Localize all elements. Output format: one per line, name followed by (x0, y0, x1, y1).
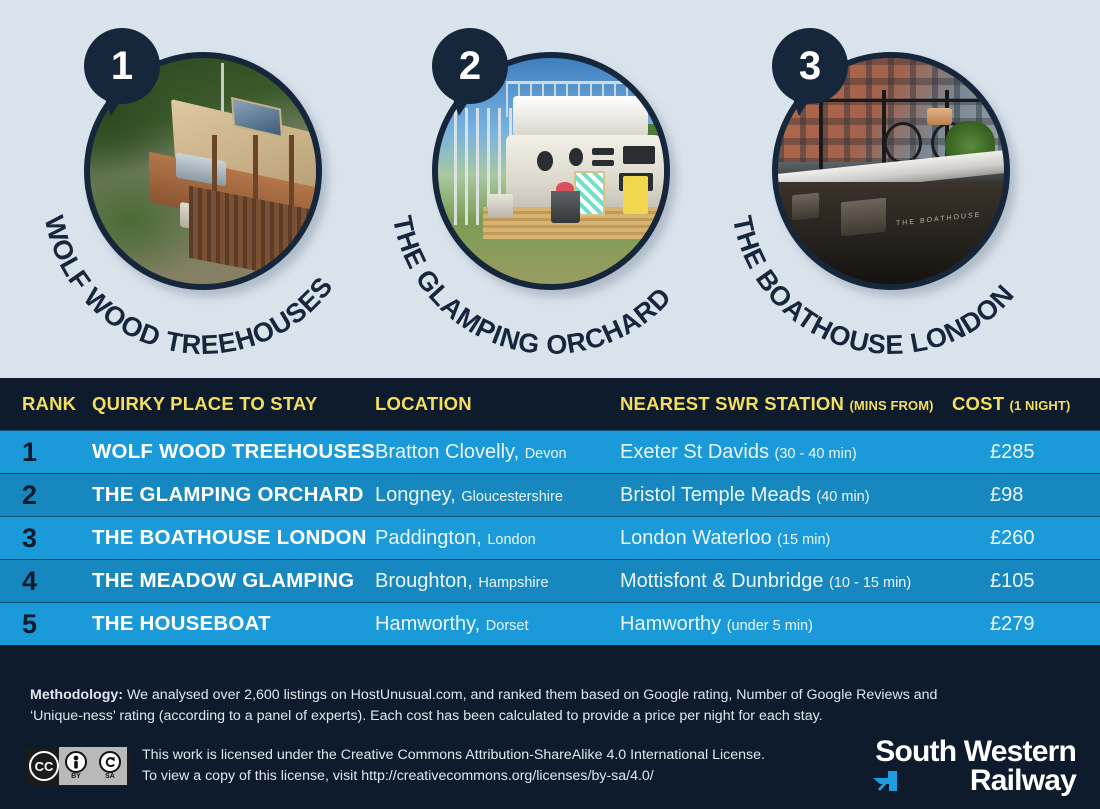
rank-bubble-number-3: 3 (799, 46, 821, 86)
cell-location-town: Hamworthy, (375, 613, 480, 635)
table-body: 1 WOLF WOOD TREEHOUSES Bratton Clovelly,… (0, 430, 1100, 645)
hero-section: 1 WOLF WOOD TREEHOUSES (0, 0, 1100, 378)
cell-location-county: Hampshire (478, 575, 548, 591)
methodology-line-1: Methodology: We analysed over 2,600 list… (30, 685, 1050, 706)
rankings-table: RANK QUIRKY PLACE TO STAY LOCATION NEARE… (0, 378, 1100, 661)
cell-location-town: Longney, (375, 484, 456, 506)
cc-by-label: BY (71, 773, 81, 781)
cc-icon: CC (29, 751, 59, 781)
cell-location-county: Gloucestershire (461, 489, 563, 505)
person-glyph (70, 755, 82, 769)
cell-station: Mottisfont & Dunbridge (10 - 15 min) (620, 570, 950, 593)
license-row: CC BY (0, 743, 1100, 809)
rank-bubble-3: 3 (772, 28, 848, 104)
cell-station-name: Exeter St Davids (620, 441, 769, 463)
cc-sa-label: SA (105, 773, 115, 781)
column-header-station-sub: (MINS FROM) (849, 398, 933, 413)
table-header-row: RANK QUIRKY PLACE TO STAY LOCATION NEARE… (0, 378, 1100, 430)
table-row[interactable]: 4 THE MEADOW GLAMPING Broughton, Hampshi… (0, 559, 1100, 602)
share-alike-glyph (104, 756, 117, 769)
column-header-station-main: NEAREST SWR STATION (620, 393, 844, 414)
cell-location-county: Dorset (486, 618, 529, 634)
cell-station-time: (10 - 15 min) (829, 575, 911, 591)
cell-place: THE MEADOW GLAMPING (92, 569, 372, 593)
badge-item-2[interactable]: 2 THE GLAMPING ORCHARD (376, 14, 716, 354)
license-line-1: This work is licensed under the Creative… (142, 745, 765, 766)
column-header-cost-main: COST (952, 393, 1004, 414)
cell-rank: 5 (22, 611, 82, 638)
rank-bubble-1: 1 (84, 28, 160, 104)
cell-station: London Waterloo (15 min) (620, 527, 950, 550)
badge-item-1[interactable]: 1 WOLF WOOD TREEHOUSES (28, 14, 368, 354)
license-text: This work is licensed under the Creative… (142, 745, 765, 787)
column-header-station: NEAREST SWR STATION (MINS FROM) (620, 393, 950, 415)
cell-place: WOLF WOOD TREEHOUSES (92, 440, 372, 464)
cell-location-town: Paddington, (375, 527, 482, 549)
cell-station-name: Hamworthy (620, 613, 721, 635)
column-header-rank: RANK (22, 393, 82, 415)
cell-rank: 3 (22, 525, 82, 552)
cell-cost: £98 (990, 484, 1100, 507)
cell-station-time: (30 - 40 min) (775, 446, 857, 462)
cell-location-town: Broughton, (375, 570, 473, 592)
table-row[interactable]: 5 THE HOUSEBOAT Hamworthy, Dorset Hamwor… (0, 602, 1100, 645)
cell-cost: £260 (990, 527, 1100, 550)
cell-location: Paddington, London (375, 527, 615, 550)
cell-cost: £105 (990, 570, 1100, 593)
cell-station: Exeter St Davids (30 - 40 min) (620, 441, 950, 464)
cell-station-time: (15 min) (777, 532, 830, 548)
column-header-cost: COST (1 NIGHT) (952, 393, 1092, 415)
brand-line-1: South Western (875, 737, 1076, 767)
infographic-page: 1 WOLF WOOD TREEHOUSES (0, 0, 1100, 809)
rank-bubble-2: 2 (432, 28, 508, 104)
table-row[interactable]: 3 THE BOATHOUSE LONDON Paddington, Londo… (0, 516, 1100, 559)
cell-location: Bratton Clovelly, Devon (375, 441, 615, 464)
table-row[interactable]: 1 WOLF WOOD TREEHOUSES Bratton Clovelly,… (0, 430, 1100, 473)
cell-location-county: London (487, 532, 535, 548)
rank-bubble-number-2: 2 (459, 46, 481, 86)
cc-icon-label: CC (35, 759, 54, 774)
column-header-location: LOCATION (375, 393, 615, 415)
license-line-2: To view a copy of this license, visit ht… (142, 766, 765, 787)
cell-rank: 1 (22, 439, 82, 466)
methodology-label: Methodology: (30, 687, 123, 703)
swr-arrow-icon (872, 769, 898, 793)
brand-line-2: Railway (970, 766, 1076, 796)
cell-station: Bristol Temple Meads (40 min) (620, 484, 950, 507)
table-row[interactable]: 2 THE GLAMPING ORCHARD Longney, Gloucest… (0, 473, 1100, 516)
cell-station-time: (40 min) (816, 489, 869, 505)
cell-rank: 2 (22, 482, 82, 509)
cell-cost: £279 (990, 613, 1100, 636)
south-western-railway-logo[interactable]: South Western Railway (866, 735, 1076, 801)
methodology-line-2: ‘Unique-ness’ rating (according to a pan… (30, 706, 1050, 727)
share-alike-icon (99, 751, 121, 773)
cell-cost: £285 (990, 441, 1100, 464)
badge-item-3[interactable]: THE BOATHOUSE 3 THE BOATHOUSE LONDON (716, 14, 1056, 354)
cell-location-county: Devon (525, 446, 567, 462)
cell-place: THE GLAMPING ORCHARD (92, 483, 372, 507)
cell-location: Longney, Gloucestershire (375, 484, 615, 507)
badge-row: 1 WOLF WOOD TREEHOUSES (0, 0, 1100, 378)
cell-location: Broughton, Hampshire (375, 570, 615, 593)
column-header-place: QUIRKY PLACE TO STAY (92, 393, 372, 415)
cell-location-town: Bratton Clovelly, (375, 441, 519, 463)
cc-by-icon: BY (59, 747, 93, 785)
cell-station-name: London Waterloo (620, 527, 772, 549)
cell-rank: 4 (22, 568, 82, 595)
methodology-note: Methodology: We analysed over 2,600 list… (30, 685, 1050, 727)
rank-bubble-number-1: 1 (111, 46, 133, 86)
cell-location: Hamworthy, Dorset (375, 613, 615, 636)
cell-station-time: (under 5 min) (727, 618, 813, 634)
cell-place: THE BOATHOUSE LONDON (92, 526, 372, 550)
creative-commons-badge[interactable]: CC BY (26, 747, 130, 785)
cell-station-name: Bristol Temple Meads (620, 484, 811, 506)
cell-place: THE HOUSEBOAT (92, 612, 372, 636)
cc-sa-icon: SA (93, 747, 127, 785)
cell-station: Hamworthy (under 5 min) (620, 613, 950, 636)
footer-section: Methodology: We analysed over 2,600 list… (0, 661, 1100, 809)
cell-station-name: Mottisfont & Dunbridge (620, 570, 823, 592)
column-header-cost-sub: (1 NIGHT) (1010, 398, 1071, 413)
methodology-text-1: We analysed over 2,600 listings on HostU… (123, 687, 937, 703)
person-icon (65, 751, 87, 773)
